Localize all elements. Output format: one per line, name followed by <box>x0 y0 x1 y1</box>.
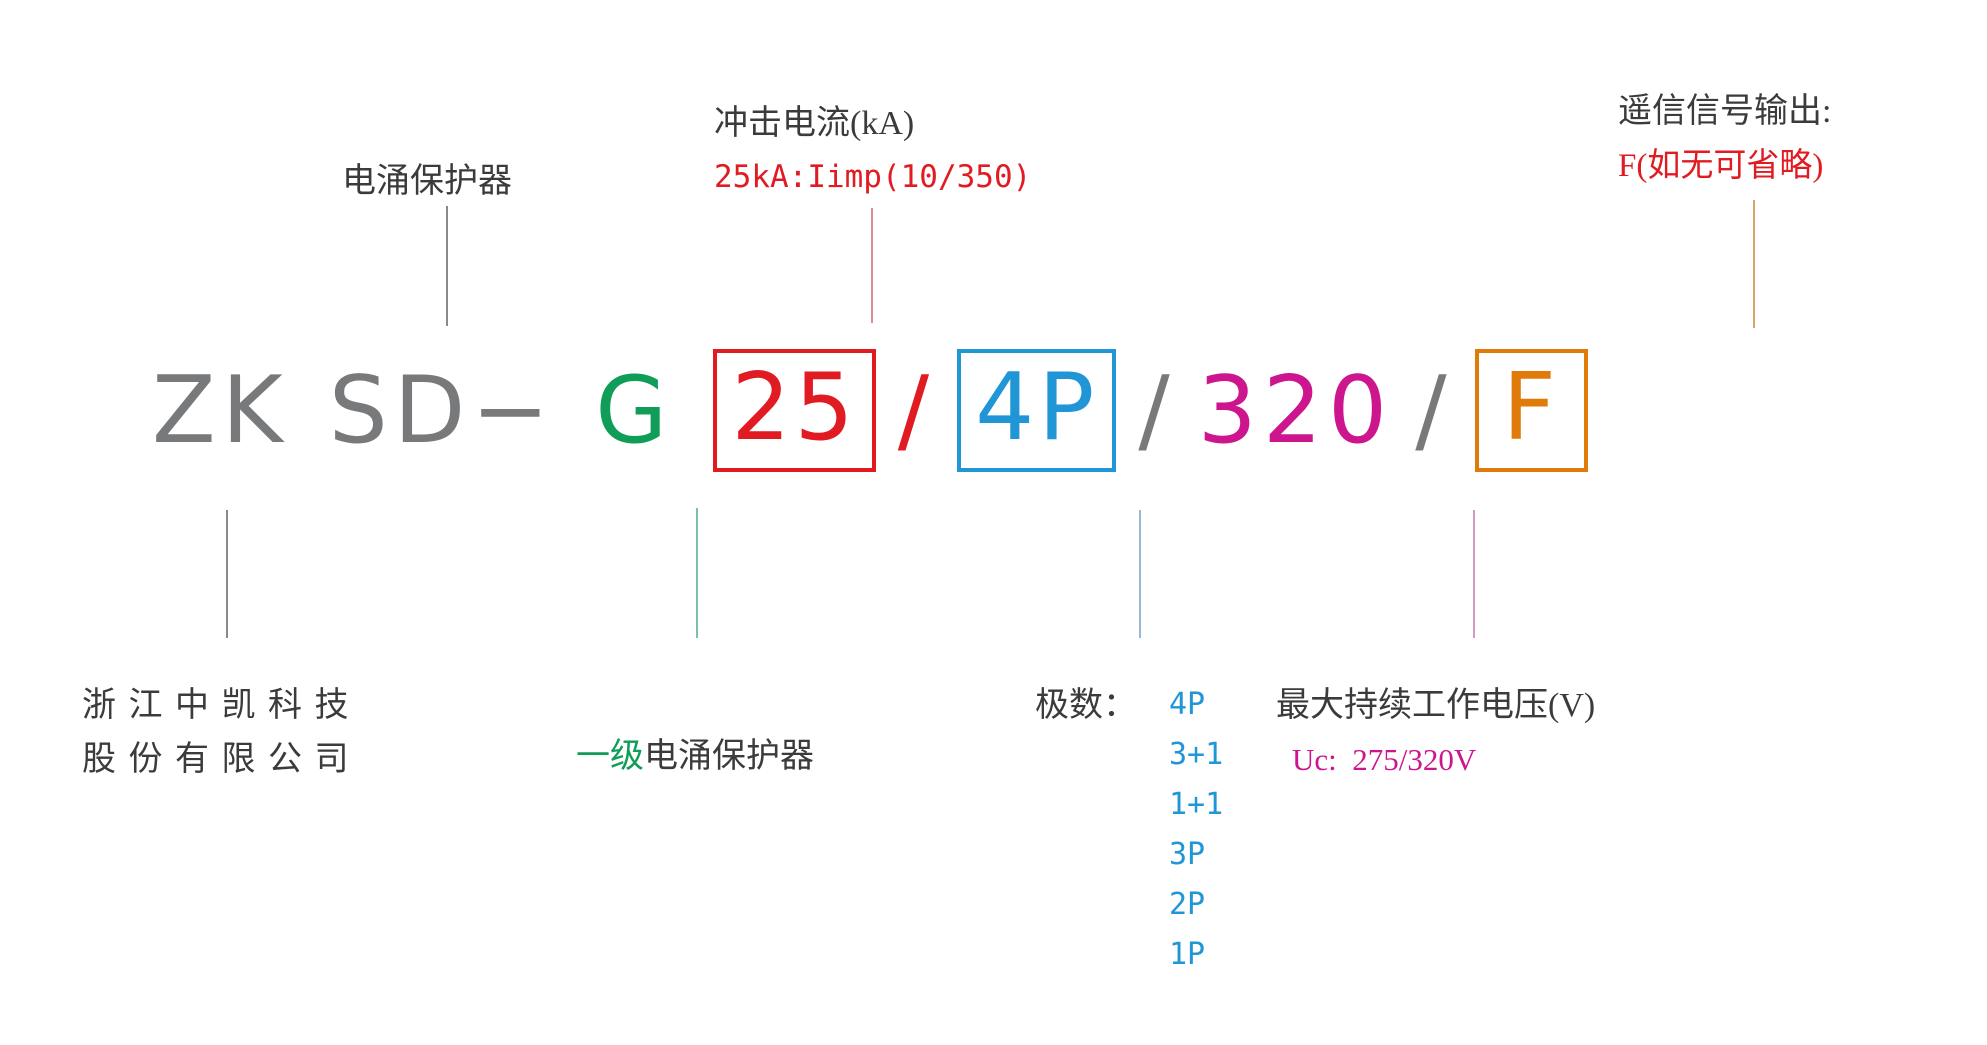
code-token-class: G <box>595 364 673 457</box>
impulse-current-label: 冲击电流(kA) <box>714 100 914 148</box>
company-label-line2: 股 份 有 限 公 司 <box>82 734 351 785</box>
poles-option: 1+1 <box>1169 780 1223 830</box>
poles-option: 3P <box>1169 830 1223 880</box>
leader-line-remote <box>1753 200 1755 328</box>
leader-line-voltage <box>1473 510 1475 638</box>
poles-option: 2P <box>1169 880 1223 930</box>
code-token-dash: − <box>471 364 555 457</box>
voltage-label-line2: Uc: 275/320V <box>1292 737 1476 784</box>
impulse-current-sublabel: 25kA:Iimp(10/350) <box>714 155 1031 199</box>
code-token-remote-signal: F <box>1475 349 1589 472</box>
leader-line-class <box>696 508 698 638</box>
code-token-slash-3: / <box>1415 364 1452 457</box>
poles-option-list: 4P 3+1 1+1 3P 2P 1P <box>1169 680 1223 980</box>
leader-line-company <box>226 510 228 638</box>
code-token-series: SD <box>329 364 472 457</box>
remote-signal-sublabel: F(如无可省略) <box>1618 143 1823 190</box>
poles-option: 1P <box>1169 930 1223 980</box>
diagram-canvas: 电涌保护器 冲击电流(kA) 25kA:Iimp(10/350) 遥信信号输出:… <box>0 0 1987 1045</box>
leader-line-spd <box>446 206 448 326</box>
code-token-voltage: 320 <box>1198 364 1394 457</box>
poles-option: 3+1 <box>1169 730 1223 780</box>
leader-line-poles <box>1139 510 1141 638</box>
code-token-impulse-current: 25 <box>713 349 875 472</box>
class-label: 一级电涌保护器 <box>542 680 814 833</box>
voltage-label-line1: 最大持续工作电压(V) <box>1276 680 1595 731</box>
remote-signal-label: 遥信信号输出: <box>1618 88 1831 136</box>
model-code-row: ZK SD − G 25 / 4P / 320 / F <box>0 330 1987 490</box>
leader-line-impulse <box>871 208 873 323</box>
code-token-slash-2: / <box>1138 364 1175 457</box>
poles-option: 4P <box>1169 680 1223 730</box>
code-token-brand: ZK <box>152 364 289 457</box>
class-label-prefix: 一级 <box>576 738 644 775</box>
code-token-poles: 4P <box>957 349 1116 472</box>
class-label-suffix: 电涌保护器 <box>644 738 814 775</box>
poles-label: 极数： <box>1035 680 1137 731</box>
spd-label: 电涌保护器 <box>342 158 512 206</box>
code-token-slash-1: / <box>898 364 935 457</box>
company-label-line1: 浙 江 中 凯 科 技 <box>82 680 351 731</box>
